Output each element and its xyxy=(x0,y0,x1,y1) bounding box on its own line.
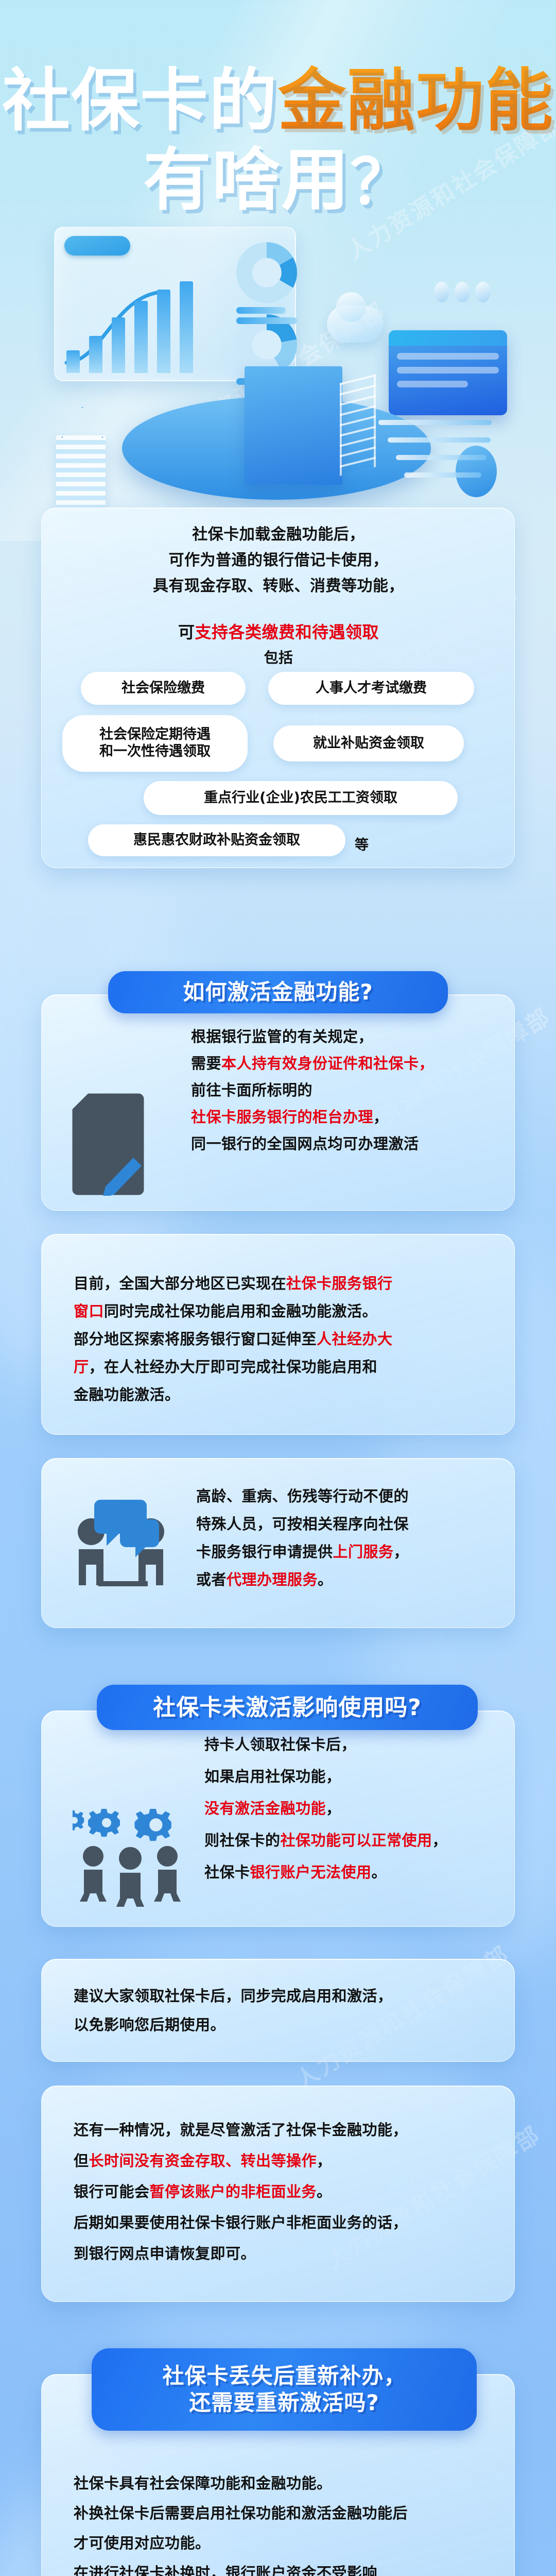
seg-highlight: 社保卡服务银行 xyxy=(286,1275,393,1292)
advice-line-2: 以免影响您后期使用。 xyxy=(74,2013,225,2037)
section-header-lost-card[interactable]: 社保卡丢失后重新补办， 还需要重新激活吗? xyxy=(92,2348,477,2431)
tower-stack-decor xyxy=(56,435,106,513)
seg: 银行可能会 xyxy=(74,2183,150,2200)
seg: 则社保卡的 xyxy=(204,1832,281,1849)
panel-tab-decor xyxy=(64,236,130,256)
bar-chart-decor xyxy=(66,280,193,373)
assistance-line-3: 卡服务银行申请提供上门服务， xyxy=(196,1540,409,1564)
page-title: 社保卡的金融功能 有啥用？ xyxy=(0,67,556,214)
locations-line-3: 部分地区探索将服务银行窗口延伸至人社经办大 xyxy=(74,1327,393,1351)
seg: ， xyxy=(432,1832,448,1849)
benefit-chip-group: 社会保险缴费 人事人才考试缴费 社会保险定期待遇 和一次性待遇领取 就业补贴资金… xyxy=(42,672,515,857)
intro-card: 社保卡加载金融功能后， 可作为普通的银行借记卡使用， 具有现金存取、转账、消费等… xyxy=(41,507,515,868)
dormant-line-3: 银行可能会暂停该账户的非柜面业务。 xyxy=(74,2180,332,2204)
floating-bars-decor xyxy=(378,420,507,487)
seg-highlight: 没有激活金融功能 xyxy=(204,1800,326,1817)
seg: 。 xyxy=(318,1571,333,1588)
intro-include-label: 包括 xyxy=(42,646,515,669)
list-item[interactable]: 惠民惠农财政补贴资金领取 xyxy=(88,824,345,856)
ladder-icon xyxy=(340,374,376,476)
seg: 卡服务银行申请提供 xyxy=(196,1543,333,1561)
seg: 但 xyxy=(74,2152,89,2170)
three-people-gears-icon xyxy=(73,1788,191,1907)
section-header-label-line1: 社保卡丢失后重新补办， xyxy=(162,2363,406,2390)
intro-line-2: 可作为普通的银行借记卡使用， xyxy=(42,548,515,573)
section-header-label: 如何激活金融功能? xyxy=(183,979,373,1006)
glass-3d-data-dashboard-illustration xyxy=(49,214,512,515)
locations-line-2: 窗口同时完成社保功能启用和金融功能激活。 xyxy=(74,1299,377,1324)
not-activated-line-3: 没有激活金融功能， xyxy=(204,1797,341,1821)
seg: 或者 xyxy=(196,1571,227,1588)
activation-line-1: 根据银行监管的有关规定， xyxy=(191,1025,373,1049)
seg: 部分地区探索将服务银行窗口延伸至 xyxy=(74,1330,317,1348)
advice-line-1: 建议大家领取社保卡后，同步完成启用和激活， xyxy=(74,1984,393,2008)
special-assistance-card: 高龄、重病、伤残等行动不便的 特殊人员，可按相关程序向社保 卡服务银行申请提供上… xyxy=(41,1458,515,1628)
seg: ，在人社经办大厅即可完成社保功能启用和 xyxy=(89,1358,378,1376)
page-title-part-1: 社保卡的 xyxy=(2,61,278,141)
reissue-line-1: 社保卡具有社会保障功能和金融功能。 xyxy=(74,2471,332,2496)
locations-line-4: 厅，在人社经办大厅即可完成社保功能启用和 xyxy=(74,1355,377,1379)
dormant-account-card: 还有一种情况，就是尽管激活了社保卡金融功能， 但长时间没有资金存取、转出等操作，… xyxy=(41,2086,515,2302)
three-lens-dots-decor xyxy=(434,282,491,302)
locations-line-1: 目前，全国大部分地区已实现在社保卡服务银行 xyxy=(74,1272,393,1296)
section-header-label: 社保卡未激活影响使用吗? xyxy=(153,1693,422,1722)
dormant-line-2: 但长时间没有资金存取、转出等操作， xyxy=(74,2149,332,2173)
dashboard-panel-decor xyxy=(54,227,296,381)
locations-line-5: 金融功能激活。 xyxy=(74,1383,180,1407)
seg-highlight: 社保功能可以正常使用 xyxy=(281,1832,432,1849)
dormant-line-5: 到银行网点申请恢复即可。 xyxy=(74,2242,256,2266)
not-activated-line-5: 社保卡银行账户无法使用。 xyxy=(204,1860,387,1885)
seg: 社保卡 xyxy=(204,1863,250,1881)
not-activated-line-4: 则社保卡的社保功能可以正常使用， xyxy=(204,1828,447,1853)
activation-locations-card: 目前，全国大部分地区已实现在社保卡服务银行 窗口同时完成社保功能启用和金融功能激… xyxy=(41,1234,515,1435)
assistance-line-4: 或者代理办理服务。 xyxy=(196,1568,333,1592)
reissue-line-3: 才可使用对应功能。 xyxy=(74,2531,211,2555)
reissue-line-2: 补换社保卡后需要启用社保功能和激活金融功能后 xyxy=(74,2501,408,2526)
not-activated-line-2: 如果启用社保功能， xyxy=(204,1765,341,1789)
seg-highlight: 厅 xyxy=(74,1358,89,1376)
list-item-suffix: 等 xyxy=(355,834,369,854)
activation-line-2: 需要本人持有效身份证件和社保卡， xyxy=(191,1052,434,1076)
seg-highlight: 人社经办大 xyxy=(317,1330,393,1348)
browser-window-decor xyxy=(389,330,507,415)
hero-banner: 社保卡的金融功能 有啥用？ xyxy=(0,0,556,515)
two-people-talking-icon xyxy=(68,1495,177,1598)
intro-emphasis-prefix: 可 xyxy=(178,622,195,642)
reissue-line-4: 在进行社保卡补换时，银行账户资金不受影响 xyxy=(74,2561,377,2576)
seg-highlight: 本人持有效身份证件和社保卡， xyxy=(221,1055,434,1072)
seg: 同时完成社保功能启用和金融功能激活。 xyxy=(104,1302,377,1320)
intro-emphasis-line: 可支持各类缴费和待遇领取 xyxy=(42,619,515,646)
seg: 需要 xyxy=(191,1055,221,1072)
activation-line-4: 社保卡服务银行的柜台办理， xyxy=(191,1105,389,1129)
not-activated-line-1: 持卡人领取社保卡后， xyxy=(204,1733,356,1757)
seg-highlight: 代理办理服务 xyxy=(227,1571,318,1588)
seg: 目前，全国大部分地区已实现在 xyxy=(74,1275,286,1292)
seg: 。 xyxy=(372,1863,387,1881)
list-item[interactable]: 就业补贴资金领取 xyxy=(273,725,464,761)
activation-line-3: 前往卡面所标明的 xyxy=(191,1078,312,1103)
seg-highlight: 长时间没有资金存取、转出等操作 xyxy=(89,2152,317,2170)
list-item[interactable]: 人事人才考试缴费 xyxy=(268,672,474,705)
intro-line-1: 社保卡加载金融功能后， xyxy=(42,522,515,548)
donut-chart-decor xyxy=(236,242,297,303)
sync-activation-advice-card: 建议大家领取社保卡后，同步完成启用和激活， 以免影响您后期使用。 xyxy=(41,1959,515,2062)
not-activated-explainer-card: 持卡人领取社保卡后， 如果启用社保功能， 没有激活金融功能， 则社保卡的社保功能… xyxy=(41,1710,515,1927)
activation-requirements-card: 根据银行监管的有关规定， 需要本人持有效身份证件和社保卡， 前往卡面所标明的 社… xyxy=(41,994,515,1211)
intro-emphasis-highlight: 支持各类缴费和待遇领取 xyxy=(195,622,379,642)
assistance-line-1: 高龄、重病、伤残等行动不便的 xyxy=(196,1484,409,1509)
dormant-line-4: 后期如果要使用社保卡银行账户非柜面业务的话， xyxy=(74,2211,408,2235)
seg: ， xyxy=(394,1543,409,1561)
list-item[interactable]: 社会保险定期待遇 和一次性待遇领取 xyxy=(62,715,248,772)
activation-line-5: 同一银行的全国网点均可办理激活 xyxy=(191,1132,419,1156)
section-header-label-line2: 还需要重新激活吗? xyxy=(189,2389,379,2417)
assistance-line-2: 特殊人员，可按相关程序向社保 xyxy=(196,1512,409,1536)
cloud-icon xyxy=(327,306,384,343)
seg-highlight: 上门服务 xyxy=(333,1543,394,1561)
seg-highlight: 社保卡服务银行的柜台办理 xyxy=(191,1108,373,1126)
seg: 。 xyxy=(317,2183,332,2200)
page-title-part-2: 金融功能 xyxy=(278,61,554,141)
seg-highlight: 窗口 xyxy=(74,1302,104,1320)
pedestal-block-decor xyxy=(245,366,342,485)
seg: ， xyxy=(373,1108,389,1126)
id-document-signature-icon xyxy=(68,1093,166,1196)
intro-line-3: 具有现金存取、转账、消费等功能， xyxy=(42,574,515,599)
page-subtitle: 有啥用 xyxy=(143,141,350,220)
question-mark-icon: ？ xyxy=(350,147,413,218)
dormant-line-1: 还有一种情况，就是尽管激活了社保卡金融功能， xyxy=(74,2118,408,2142)
list-item[interactable]: 重点行业(企业)农民工工资领取 xyxy=(144,781,458,815)
seg-highlight: 暂停该账户的非柜面业务 xyxy=(150,2183,317,2200)
seg: ， xyxy=(317,2152,332,2170)
seg: ， xyxy=(326,1800,341,1817)
list-item[interactable]: 社会保险缴费 xyxy=(81,672,246,705)
section-header-not-activated[interactable]: 社保卡未激活影响使用吗? xyxy=(97,1685,478,1730)
section-header-how-to-activate[interactable]: 如何激活金融功能? xyxy=(108,971,448,1013)
seg-highlight: 银行账户无法使用 xyxy=(250,1863,372,1881)
